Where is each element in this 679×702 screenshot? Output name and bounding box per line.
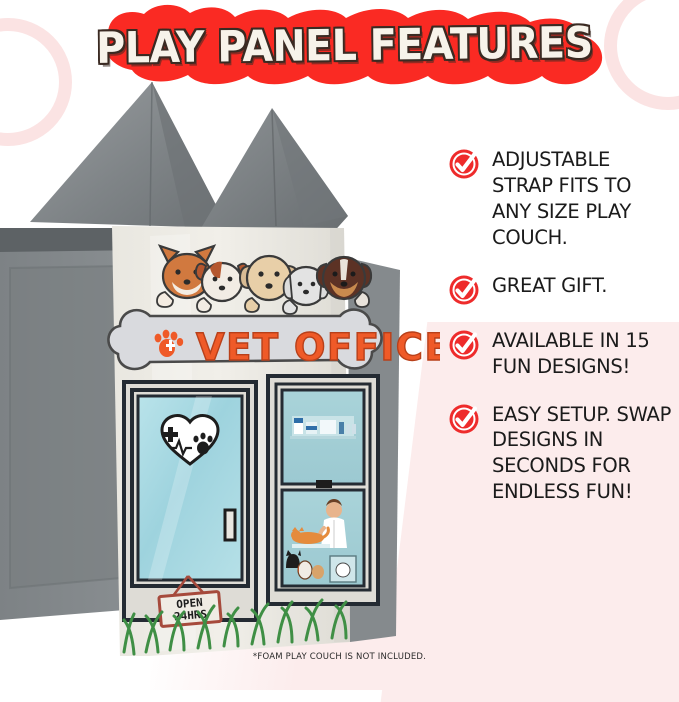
- check-circle-icon: [448, 329, 480, 361]
- check-circle-icon: [448, 403, 480, 435]
- feature-text: GREAT GIFT.: [492, 272, 607, 299]
- product-image-vet-office-play-panel: VET OFFICE: [0, 76, 440, 656]
- footnote-disclaimer: *FOAM PLAY COUCH IS NOT INCLUDED.: [0, 652, 679, 662]
- roof-wedge-left: [30, 82, 228, 232]
- feature-text: ADJUSTABLE STRAP FITS TO ANY SIZE PLAY C…: [492, 146, 674, 251]
- feature-item-adjustable-strap: ADJUSTABLE STRAP FITS TO ANY SIZE PLAY C…: [448, 146, 674, 251]
- check-circle-icon: [448, 274, 480, 306]
- vet-office-window: [268, 376, 378, 604]
- door-handle: [225, 510, 235, 540]
- feature-text: EASY SETUP. SWAP DESIGNS IN SECONDS FOR …: [492, 401, 674, 506]
- feature-item-great-gift: GREAT GIFT.: [448, 272, 674, 306]
- feature-list: ADJUSTABLE STRAP FITS TO ANY SIZE PLAY C…: [448, 146, 674, 526]
- feature-item-easy-setup: EASY SETUP. SWAP DESIGNS IN SECONDS FOR …: [448, 401, 674, 506]
- roof-wedge-right: [200, 108, 348, 236]
- svg-text:VET OFFICE: VET OFFICE: [196, 326, 440, 369]
- feature-item-available-designs: AVAILABLE IN 15 FUN DESIGNS!: [448, 327, 674, 380]
- decorative-ring-right: [604, 0, 679, 110]
- feature-text: AVAILABLE IN 15 FUN DESIGNS!: [492, 327, 674, 380]
- page-title: PLAY PANEL FEATURES: [99, 11, 590, 81]
- pharmacy-shelves: [290, 416, 356, 439]
- vet-office-door: OPEN 24HRS: [124, 382, 256, 627]
- check-circle-icon: [448, 148, 480, 180]
